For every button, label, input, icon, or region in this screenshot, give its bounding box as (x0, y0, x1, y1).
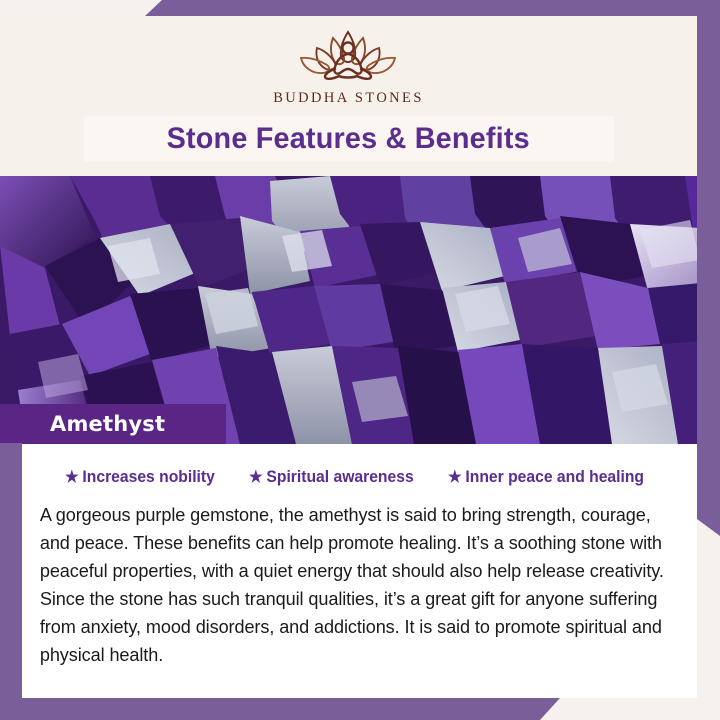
stone-name-badge: Amethyst (0, 404, 226, 444)
brand-logo: BUDDHA STONES (273, 24, 424, 107)
header: BUDDHA STONES Stone Features & Benefits (0, 16, 697, 176)
decorative-bar-left (0, 443, 22, 703)
benefits-list: ★ Increases nobility ★ Spiritual awarene… (30, 468, 689, 487)
stone-description: A gorgeous purple gemstone, the amethyst… (30, 501, 679, 669)
lotus-meditation-icon (273, 24, 423, 86)
decorative-bar-top-right (145, 0, 720, 16)
benefit-label: Inner peace and healing (465, 468, 644, 487)
decorative-bar-bottom (0, 698, 560, 720)
benefit-item-2: ★ Inner peace and healing (448, 468, 644, 487)
brand-name: BUDDHA STONES (273, 90, 424, 107)
star-icon: ★ (448, 470, 462, 486)
content-panel: ★ Increases nobility ★ Spiritual awarene… (22, 444, 697, 698)
stone-name: Amethyst (0, 412, 165, 436)
star-icon: ★ (249, 470, 263, 486)
infographic-page: BUDDHA STONES Stone Features & Benefits (0, 0, 720, 720)
benefit-label: Spiritual awareness (266, 468, 413, 487)
title-band: Stone Features & Benefits (84, 116, 614, 162)
benefit-item-1: ★ Spiritual awareness (249, 468, 414, 487)
page-title: Stone Features & Benefits (167, 122, 530, 156)
star-icon: ★ (65, 470, 79, 486)
benefit-label: Increases nobility (82, 468, 214, 487)
decorative-bar-right (697, 16, 720, 536)
benefit-item-0: ★ Increases nobility (65, 468, 215, 487)
